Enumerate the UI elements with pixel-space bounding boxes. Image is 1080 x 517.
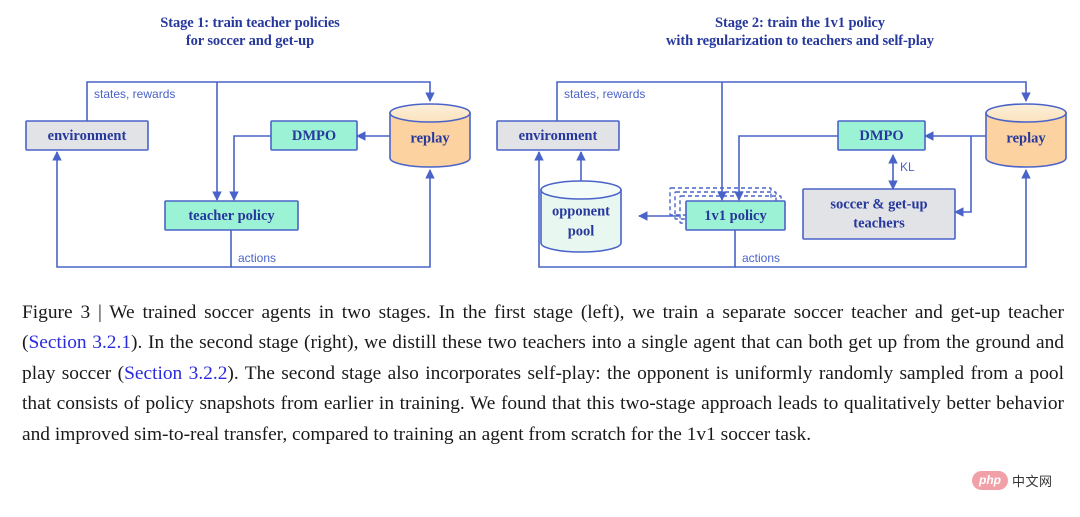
edge-label-stage2-kl: KL [900, 160, 915, 174]
edge-label-stage2-actions: actions [742, 251, 780, 265]
node-stage2-replay: replay [986, 104, 1066, 167]
node-stage2-teachers-label-line2: teachers [853, 215, 905, 231]
stage1-graph: environment DMPO teacher policy replay s… [26, 82, 470, 267]
diagram-svg: environment DMPO teacher policy replay s… [0, 0, 1080, 292]
edge-s2-replay-to-teachers [955, 136, 971, 212]
edge-label-stage1-states-rewards: states, rewards [94, 87, 175, 101]
node-stage2-1v1-policy-label: 1v1 policy [704, 208, 767, 224]
caption-link-section-321[interactable]: Section 3.2.1 [28, 332, 131, 353]
node-stage1-teacher-policy-label: teacher policy [188, 208, 275, 224]
edge-label-stage2-states-rewards: states, rewards [564, 87, 645, 101]
node-stage2-opponent-pool: opponent pool [541, 181, 621, 252]
edge-label-stage1-actions: actions [238, 251, 276, 265]
caption-link-section-322[interactable]: Section 3.2.2 [124, 363, 227, 384]
watermark: php 中文网 [972, 471, 1053, 490]
node-stage1-replay: replay [390, 104, 470, 167]
edge-dmpo-to-teacher [234, 136, 271, 200]
figure-diagram: Stage 1: train teacher policies for socc… [0, 0, 1080, 292]
node-stage2-opponent-pool-label-line1: opponent [552, 203, 610, 219]
node-stage2-teachers-label-line1: soccer & get-up [830, 196, 927, 212]
node-stage1-dmpo-label: DMPO [292, 128, 336, 144]
node-stage1-environment-label: environment [48, 128, 127, 144]
watermark-text: 中文网 [1012, 471, 1053, 490]
node-stage2-environment-label: environment [519, 128, 598, 144]
stage2-graph: environment opponent pool 1v1 policy DMP… [497, 82, 1066, 267]
node-stage2-dmpo-label: DMPO [859, 128, 903, 144]
node-stage2-opponent-pool-label-line2: pool [568, 223, 595, 239]
figure-caption: Figure 3 | We trained soccer agents in t… [22, 298, 1064, 450]
php-badge-icon: php [972, 471, 1008, 490]
node-stage1-replay-label: replay [410, 130, 450, 146]
caption-figure-number: Figure 3 | [22, 302, 109, 323]
node-stage2-replay-label: replay [1006, 130, 1046, 146]
